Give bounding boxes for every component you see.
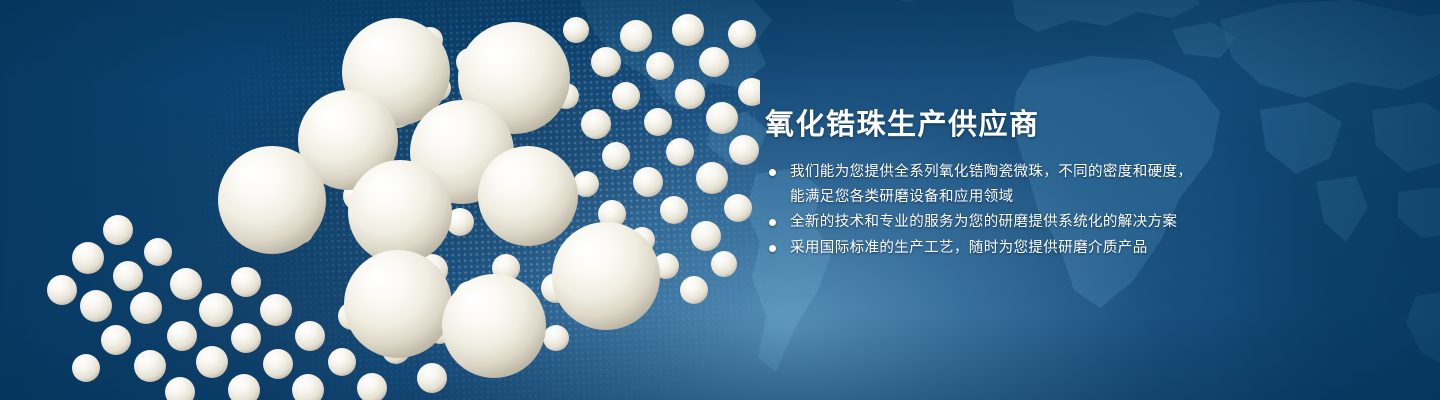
feature-list: 我们能为您提供全系列氧化锆陶瓷微珠，不同的密度和硬度， 能满足您各类研磨设备和应…	[765, 160, 1325, 260]
bullet-dot-icon	[769, 245, 776, 252]
feature-text-line1: 采用国际标准的生产工艺，随时为您提供研磨介质产品	[790, 240, 1148, 256]
feature-text-line1: 我们能为您提供全系列氧化锆陶瓷微珠，不同的密度和硬度，	[790, 164, 1192, 180]
hero-banner: 氧化锆珠生产供应商 我们能为您提供全系列氧化锆陶瓷微珠，不同的密度和硬度， 能满…	[0, 0, 1440, 400]
bullet-dot-icon	[769, 219, 776, 226]
feature-text-line2: 能满足您各类研磨设备和应用领域	[790, 185, 1325, 210]
list-item: 我们能为您提供全系列氧化锆陶瓷微珠，不同的密度和硬度， 能满足您各类研磨设备和应…	[765, 160, 1325, 209]
zirconia-beads-image	[0, 0, 760, 400]
feature-text-line1: 全新的技术和专业的服务为您的研磨提供系统化的解决方案	[790, 214, 1177, 230]
page-title: 氧化锆珠生产供应商	[765, 104, 1325, 144]
bullet-dot-icon	[769, 169, 776, 176]
list-item: 采用国际标准的生产工艺，随时为您提供研磨介质产品	[765, 236, 1325, 261]
list-item: 全新的技术和专业的服务为您的研磨提供系统化的解决方案	[765, 210, 1325, 235]
banner-copy: 氧化锆珠生产供应商 我们能为您提供全系列氧化锆陶瓷微珠，不同的密度和硬度， 能满…	[765, 104, 1325, 261]
